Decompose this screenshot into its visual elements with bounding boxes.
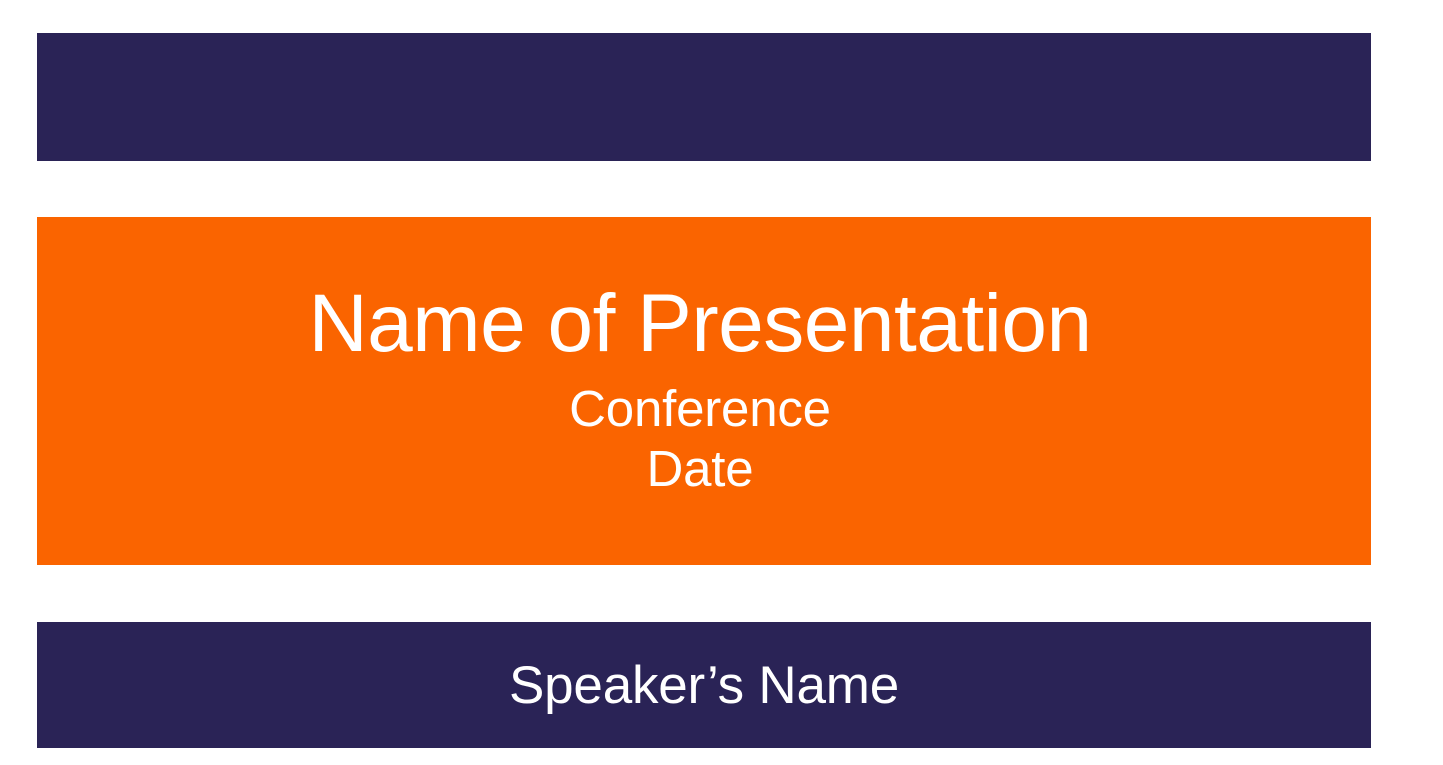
subtitle-conference: Conference: [569, 379, 831, 439]
speaker-name: Speaker’s Name: [509, 659, 899, 712]
page-title: Name of Presentation: [308, 283, 1091, 365]
speaker-band: Speaker’s Name: [37, 622, 1371, 748]
title-stack: Name of Presentation Conference Date: [308, 283, 1091, 499]
top-accent-bar: [37, 33, 1371, 161]
subtitle-date: Date: [647, 439, 754, 499]
title-band: Name of Presentation Conference Date: [37, 217, 1371, 565]
subtitle-block: Conference Date: [569, 379, 831, 499]
title-slide: Name of Presentation Conference Date Spe…: [0, 0, 1443, 765]
